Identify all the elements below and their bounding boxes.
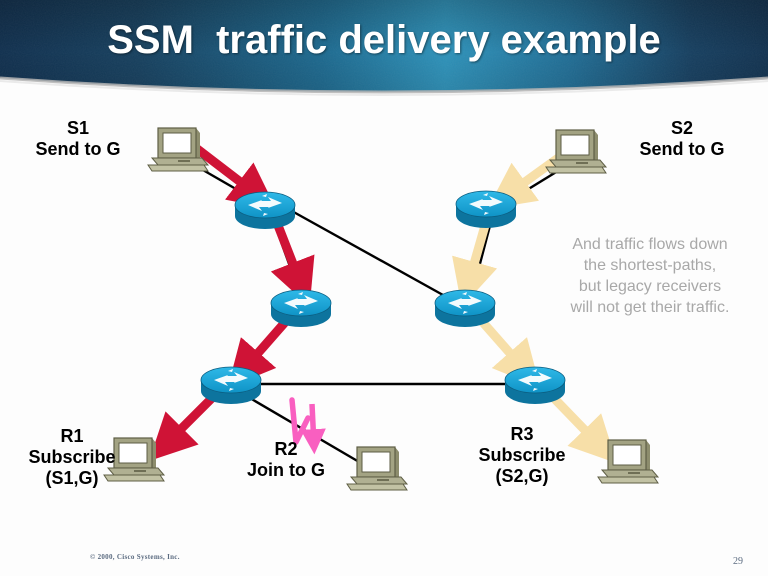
- annotation-note: And traffic flows down the shortest-path…: [540, 234, 760, 318]
- pc-s1[interactable]: [148, 128, 208, 171]
- link-rtl-rmr: [290, 210, 452, 300]
- label-r2: R2 Join to G: [218, 439, 354, 481]
- copyright-text: © 2000, Cisco Systems, Inc.: [90, 553, 180, 561]
- label-s1: S1 Send to G: [8, 118, 148, 160]
- router-bottom-left[interactable]: [201, 367, 261, 404]
- router-top-left[interactable]: [235, 192, 295, 229]
- flow-red-seg4: [160, 392, 218, 450]
- label-r1: R1 Subscribe (S1,G): [6, 426, 138, 489]
- router-mid-left[interactable]: [271, 290, 331, 327]
- title-banner: SSM traffic delivery example: [0, 0, 768, 104]
- network-diagram: S1 Send to G S2 Send to G R1 Subscribe (…: [0, 104, 768, 544]
- router-bottom-right[interactable]: [505, 367, 565, 404]
- slide-canvas: SSM traffic delivery example: [0, 0, 768, 576]
- pc-s2[interactable]: [546, 130, 606, 173]
- page-title: SSM traffic delivery example: [0, 18, 768, 63]
- pc-r3[interactable]: [598, 440, 658, 483]
- page-number: 29: [733, 556, 743, 567]
- router-top-right[interactable]: [456, 191, 516, 228]
- pc-r2[interactable]: [347, 447, 407, 490]
- label-s2: S2 Send to G: [612, 118, 752, 160]
- flow-red-seg1: [196, 148, 264, 200]
- zigzag-icon: [292, 400, 308, 442]
- label-r3: R3 Subscribe (S2,G): [452, 424, 592, 487]
- router-mid-right[interactable]: [435, 290, 495, 327]
